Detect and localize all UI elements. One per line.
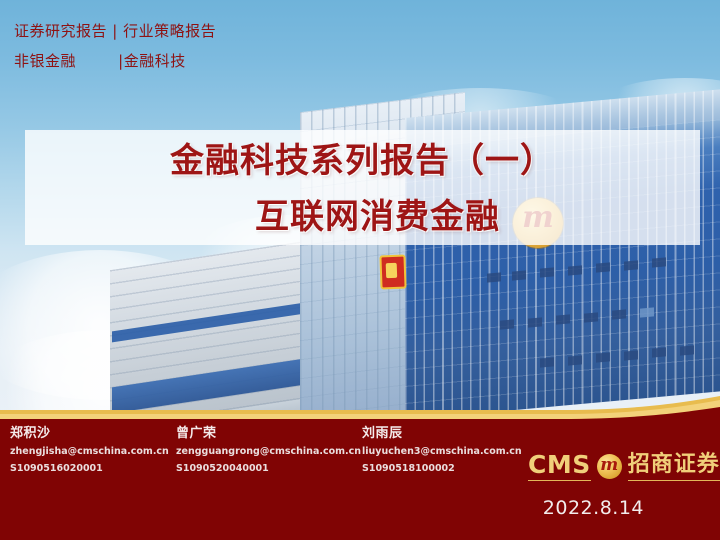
window-panel — [612, 309, 626, 319]
author-name: 郑积沙 — [10, 425, 166, 443]
author-email[interactable]: zhengjisha@cmschina.com.cn — [10, 443, 166, 460]
author-block: 刘雨辰 liuyuchen3@cmschina.com.cn S10905181… — [352, 419, 532, 489]
window-panel — [512, 270, 526, 280]
cms-logo-letters: CMS — [528, 452, 591, 481]
title-line-1: 金融科技系列报告（一） — [25, 133, 700, 189]
author-email[interactable]: liuyuchen3@cmschina.com.cn — [362, 443, 532, 460]
window-panel — [568, 355, 582, 365]
window-panel — [652, 347, 666, 357]
author-license-number: S1090516020001 — [10, 460, 166, 477]
window-panel — [640, 307, 654, 317]
cms-emblem-glyph: m — [597, 453, 622, 478]
author-name: 刘雨辰 — [362, 425, 532, 443]
window-panel — [500, 319, 514, 329]
title-line-2: 互联网消费金融 — [25, 189, 700, 245]
window-panel — [596, 262, 610, 272]
cms-logo-chinese-name: 招商证券 — [628, 452, 720, 481]
window-panel — [680, 345, 694, 355]
header-line-research-type: 证券研究报告 | 行业策略报告 — [14, 16, 216, 46]
window-panel — [624, 260, 638, 270]
window-panel — [584, 312, 598, 322]
page-title: 金融科技系列报告（一） 互联网消费金融 — [25, 133, 700, 245]
window-panel — [540, 357, 554, 367]
window-panel — [652, 257, 666, 267]
window-panel — [624, 350, 638, 360]
window-panel — [528, 317, 542, 327]
window-panel — [556, 314, 570, 324]
window-panel — [487, 272, 501, 282]
report-cover-slide: 证券研究报告 | 行业策略报告 非银金融 |金融科技 金融科技系列报告（一） 互… — [0, 0, 720, 540]
author-email[interactable]: zengguangrong@cmschina.com.cn — [176, 443, 352, 460]
window-panel — [540, 267, 554, 277]
report-category-header: 证券研究报告 | 行业策略报告 非银金融 |金融科技 — [14, 16, 216, 76]
publication-date: 2022.8.14 — [543, 497, 644, 519]
author-license-number: S1090520040001 — [176, 460, 352, 477]
window-panel — [596, 352, 610, 362]
cms-logo: CMS m 招商证券 — [528, 452, 720, 481]
author-name: 曾广荣 — [176, 425, 352, 443]
author-block: 曾广荣 zengguangrong@cmschina.com.cn S10905… — [166, 419, 352, 489]
rooftop-cms-sign — [379, 255, 406, 290]
header-line-sector: 非银金融 |金融科技 — [14, 46, 216, 76]
author-block: 郑积沙 zhengjisha@cmschina.com.cn S10905160… — [0, 419, 166, 489]
window-panel — [568, 265, 582, 275]
cms-logo-emblem-icon: m — [597, 454, 622, 479]
author-license-number: S1090518100002 — [362, 460, 532, 477]
